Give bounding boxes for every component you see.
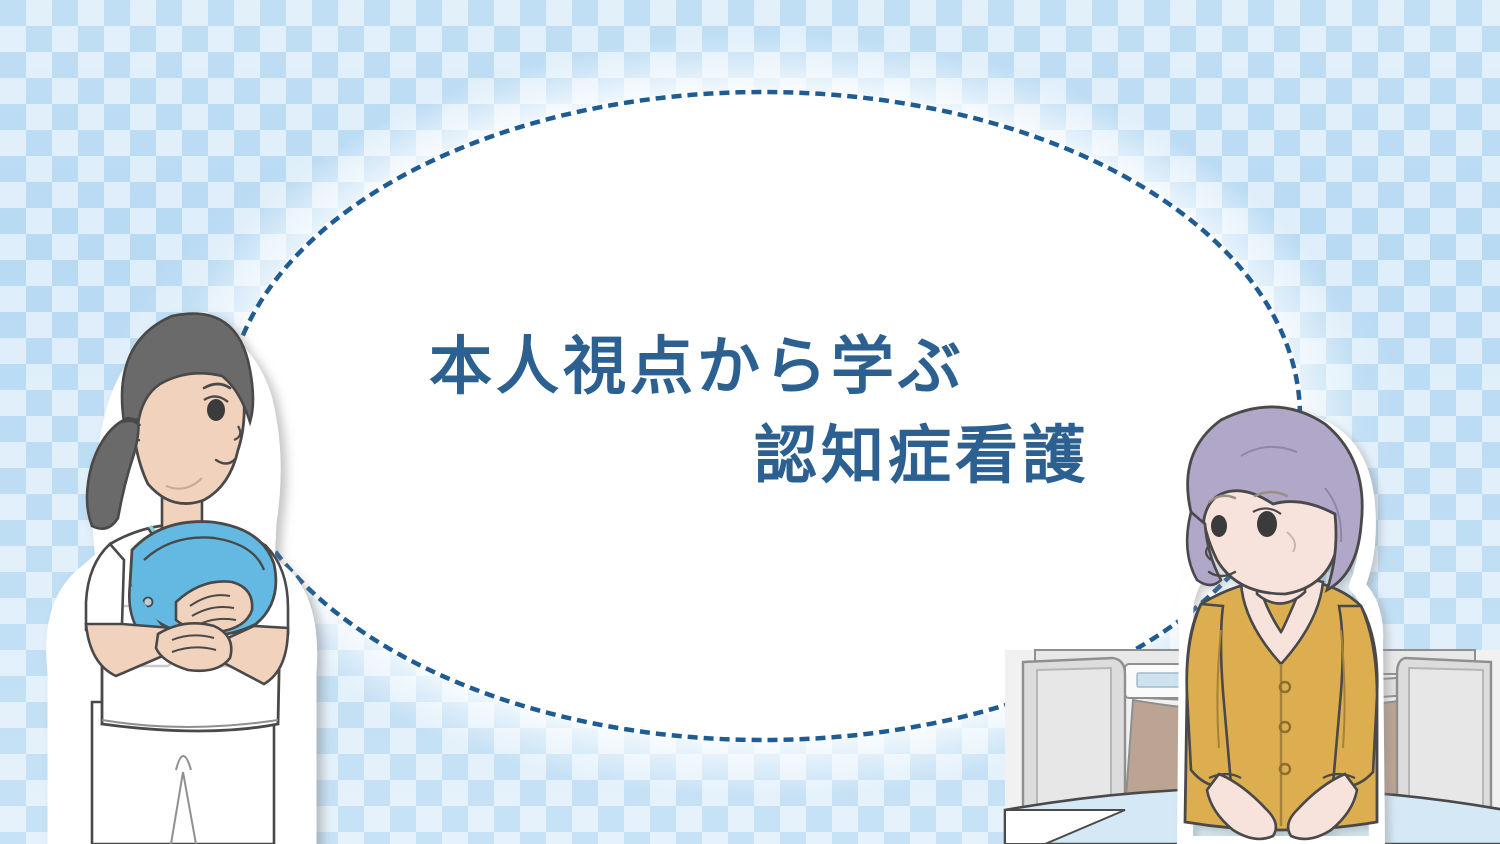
bed-control-screen bbox=[1137, 673, 1181, 687]
patient-sticker-group bbox=[1185, 407, 1377, 844]
nurse-illustration bbox=[26, 272, 326, 844]
nurse-sleeve-left bbox=[86, 544, 124, 633]
patient-illustration bbox=[1005, 392, 1500, 844]
nurse-eye bbox=[207, 399, 225, 421]
patient-eye-right bbox=[1257, 511, 1277, 537]
bed-rail-left-inner bbox=[1037, 668, 1111, 806]
patient-eye-left bbox=[1211, 515, 1227, 537]
slide-canvas: 本人視点から学ぶ 認知症看護 bbox=[0, 0, 1500, 844]
nurse-sticker-group bbox=[55, 314, 309, 844]
bed-rail-right-inner bbox=[1409, 668, 1483, 806]
